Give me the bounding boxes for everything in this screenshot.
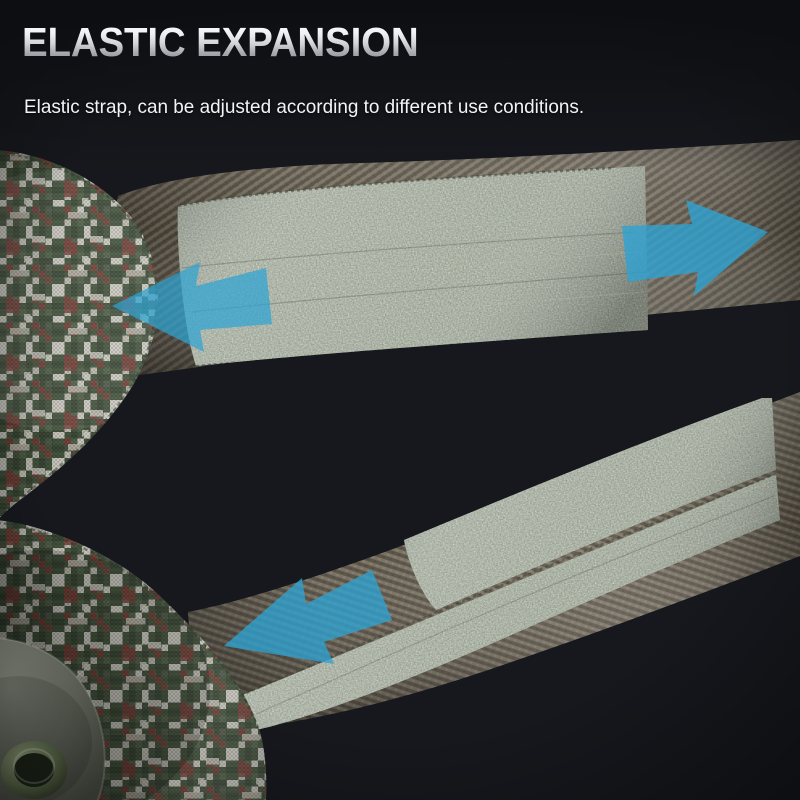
page-subtitle: Elastic strap, can be adjusted according…	[24, 94, 606, 122]
product-feature-banner: ELASTIC EXPANSION Elastic strap, can be …	[0, 0, 800, 800]
page-title: ELASTIC EXPANSION	[22, 22, 419, 64]
